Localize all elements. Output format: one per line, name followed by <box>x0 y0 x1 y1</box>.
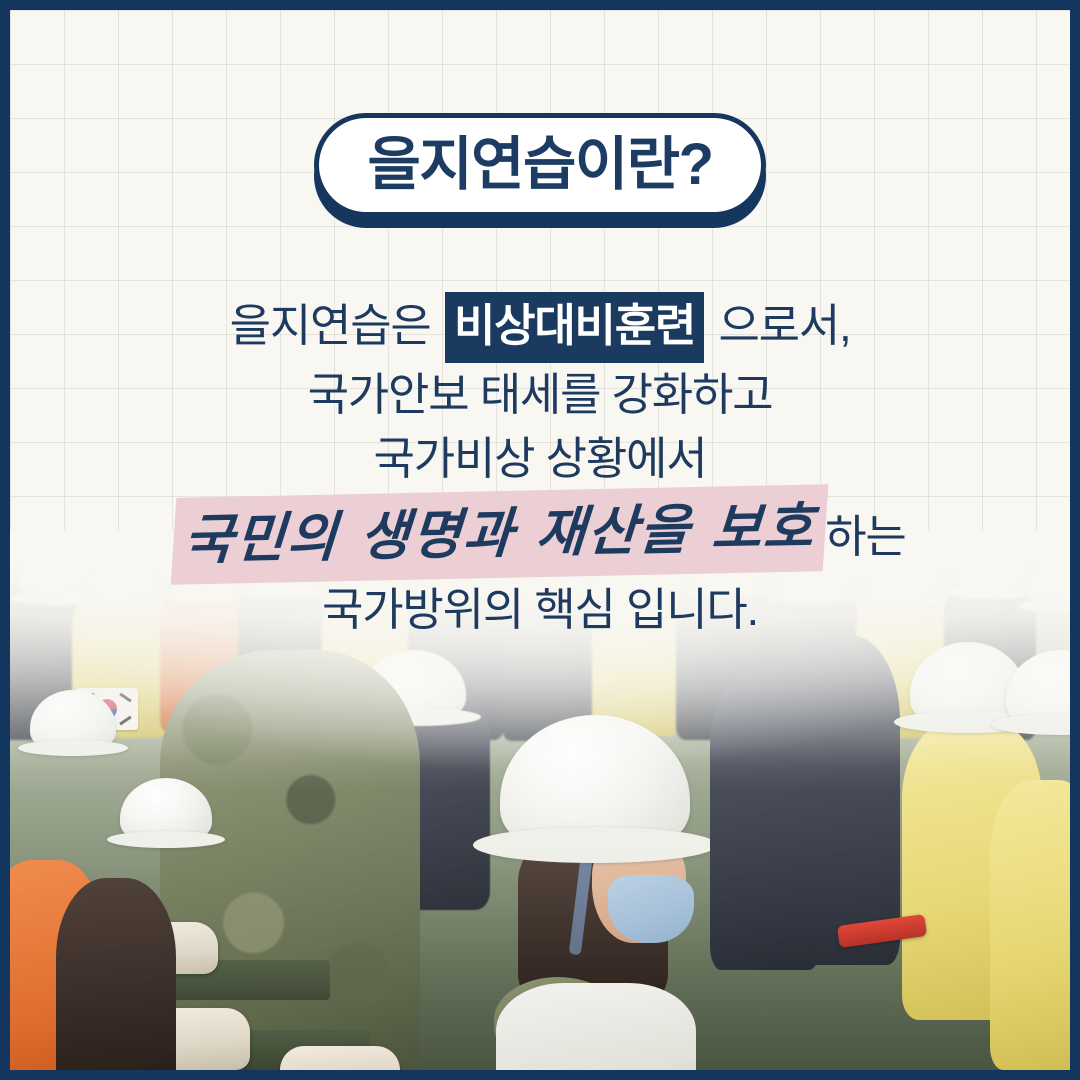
body-line-3: 국가비상 상황에서 <box>10 427 1070 491</box>
body-copy: 을지연습은 비상대비훈련 으로서, 국가안보 태세를 강화하고 국가비상 상황에… <box>10 292 1070 642</box>
title-pill: 을지연습이란? <box>314 113 766 217</box>
photo-figure <box>990 780 1070 1070</box>
blue-mask <box>608 875 694 943</box>
infographic-card: 을지연습이란? 을지연습은 비상대비훈련 으로서, 국가안보 태세를 강화하고 … <box>0 0 1080 1080</box>
white-safety-helmet <box>500 715 690 855</box>
body-line-1: 을지연습은 비상대비훈련 으로서, <box>10 292 1070 363</box>
line1-before-text: 을지연습은 <box>230 300 431 351</box>
body-line-2: 국가안보 태세를 강화하고 <box>10 363 1070 427</box>
line1-after-text: 으로서, <box>718 300 850 351</box>
photo-person-with-blue-mask <box>480 715 710 1070</box>
title-pill-wrapper: 을지연습이란? <box>10 113 1070 217</box>
photo-soldier <box>160 650 420 1070</box>
photo-figure <box>710 670 820 970</box>
emphasis-chip-emergency-drill: 비상대비훈련 <box>445 292 704 363</box>
handwritten-highlight: 국민의 생명과 재산을 보호 <box>171 484 829 585</box>
body-line-5: 국가방위의 핵심 입니다. <box>10 578 1070 642</box>
body-line-4: 국민의 생명과 재산을 보호하는 <box>10 491 1070 578</box>
cpr-manikin <box>280 1046 400 1070</box>
page-title: 을지연습이란? <box>367 136 712 194</box>
line4-tail-text: 하는 <box>825 511 905 562</box>
photo-figure <box>56 878 176 1070</box>
